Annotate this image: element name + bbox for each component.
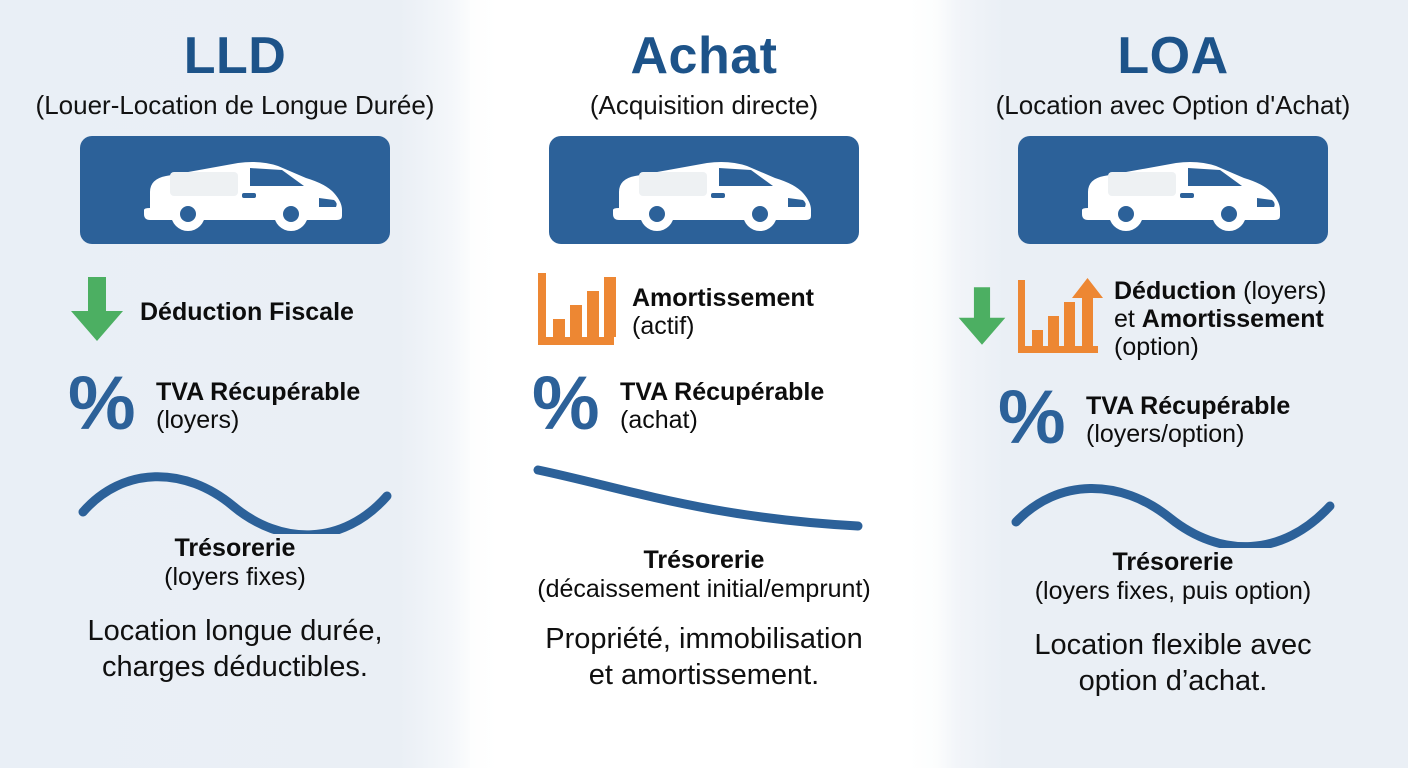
column-title-loa: LOA — [1117, 30, 1228, 82]
feature-label-line2-prefix: et — [1114, 305, 1142, 333]
column-lld: LLD (Louer-Location de Longue Durée) — [0, 0, 470, 768]
van-icon — [110, 146, 360, 234]
feature-label-tva-loa: TVA Récupérable (loyers/option) — [1086, 392, 1290, 448]
comparison-infographic: LLD (Louer-Location de Longue Durée) — [0, 0, 1408, 768]
column-subtitle-achat: (Acquisition directe) — [590, 91, 818, 120]
cash-label-achat: Trésorerie (décaissement initial/emprunt… — [537, 546, 870, 605]
cash-label-lld: Trésorerie (loyers fixes) — [164, 534, 306, 593]
column-title-achat: Achat — [631, 30, 778, 82]
feature-label-sub: (loyers/option) — [1086, 420, 1244, 448]
feature-label-deduction-loa: Déduction (loyers) et Amortissement (opt… — [1114, 277, 1327, 361]
feature-row-deduction-lld: Déduction Fiscale — [0, 266, 470, 358]
summary-loa: Location flexible avec option d’achat. — [1018, 627, 1327, 700]
cash-label-loa: Trésorerie (loyers fixes, puis option) — [1035, 548, 1312, 607]
column-achat: Achat (Acquisition directe) — [470, 0, 938, 768]
feature-label-deduction-lld: Déduction Fiscale — [140, 298, 354, 326]
feature-label-tva-achat: TVA Récupérable (achat) — [620, 378, 824, 434]
cash-label-title: Trésorerie — [1113, 548, 1234, 576]
feature-label-bold: Amortissement — [632, 284, 814, 312]
feature-label-sub: (loyers) — [156, 406, 239, 434]
vehicle-badge-lld — [80, 136, 390, 244]
feature-label-sub: (achat) — [620, 406, 698, 434]
svg-text:%: % — [998, 377, 1066, 457]
cash-label-sub: (loyers fixes) — [164, 563, 306, 591]
cash-label-title: Trésorerie — [644, 546, 765, 574]
feature-label-bold: Déduction — [1114, 277, 1236, 305]
orange-growth-chart-icon — [1012, 272, 1104, 365]
column-subtitle-loa: (Location avec Option d'Achat) — [996, 91, 1351, 120]
orange-bar-chart-icon — [532, 269, 618, 354]
vehicle-badge-achat — [549, 136, 859, 244]
green-down-arrow-icon — [68, 273, 126, 350]
svg-text:%: % — [532, 363, 600, 443]
column-title-lld: LLD — [184, 30, 287, 82]
feature-row-deduction-loa: Déduction (loyers) et Amortissement (opt… — [938, 266, 1408, 372]
feature-label-line1: Déduction (loyers) — [1114, 277, 1327, 305]
feature-label-sub: (option) — [1114, 333, 1199, 361]
feature-icons — [956, 272, 1104, 365]
summary-achat: Propriété, immobilisation et amortisseme… — [529, 621, 879, 694]
feature-label-bold: TVA Récupérable — [1086, 392, 1290, 420]
feature-icons — [532, 269, 618, 354]
feature-icons — [68, 273, 126, 350]
vehicle-badge-loa — [1018, 136, 1328, 244]
feature-row-tva-achat: % TVA Récupérable (achat) — [470, 358, 938, 454]
column-subtitle-lld: (Louer-Location de Longue Durée) — [36, 91, 435, 120]
percent-icon: % — [68, 363, 138, 448]
van-icon — [1048, 146, 1298, 234]
cashflow-curve-achat — [470, 460, 938, 544]
feature-label-bold: TVA Récupérable — [156, 378, 360, 406]
green-down-arrow-icon — [956, 280, 1008, 357]
feature-label-line2: et Amortissement — [1114, 305, 1324, 333]
feature-icons: % — [68, 363, 138, 448]
cash-label-title: Trésorerie — [175, 534, 296, 562]
feature-label-tva-lld: TVA Récupérable (loyers) — [156, 378, 360, 434]
feature-label-line2-bold: Amortissement — [1142, 305, 1324, 333]
feature-label-rest: (loyers) — [1236, 277, 1326, 305]
feature-row-tva-lld: % TVA Récupérable (loyers) — [0, 358, 470, 454]
cashflow-curve-lld — [0, 460, 470, 538]
feature-label-bold: Déduction Fiscale — [140, 298, 354, 326]
percent-icon: % — [950, 377, 1068, 462]
feature-label-bold: TVA Récupérable — [620, 378, 824, 406]
summary-lld: Location longue durée, charges déductibl… — [71, 613, 398, 686]
feature-row-amortissement-achat: Amortissement (actif) — [470, 266, 938, 358]
cashflow-curve-loa — [938, 474, 1408, 552]
percent-icon: % — [532, 363, 602, 448]
svg-text:%: % — [68, 363, 136, 443]
cash-label-sub: (décaissement initial/emprunt) — [537, 575, 870, 603]
feature-label-amortissement-achat: Amortissement (actif) — [632, 284, 814, 340]
cash-label-sub: (loyers fixes, puis option) — [1035, 577, 1312, 605]
feature-icons: % — [532, 363, 602, 448]
van-icon — [579, 146, 829, 234]
feature-row-tva-loa: % TVA Récupérable (loyers/option) — [938, 372, 1408, 468]
feature-label-sub: (actif) — [632, 312, 695, 340]
feature-icons: % — [950, 377, 1068, 462]
column-loa: LOA (Location avec Option d'Achat) — [938, 0, 1408, 768]
